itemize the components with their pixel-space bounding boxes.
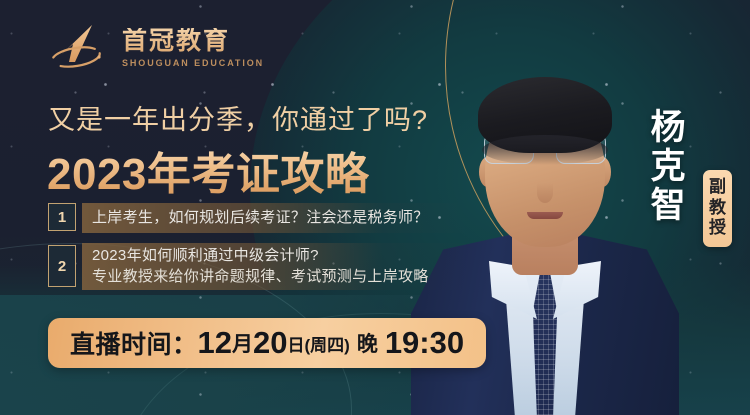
headline-subtitle: 又是一年出分季，你通过了吗? — [48, 98, 428, 137]
live-weekday: (周四) — [304, 331, 349, 356]
bullet-text: 2023年如何顺利通过中级会计师? — [92, 245, 468, 266]
headline-title: 2023年考证攻略 — [47, 138, 369, 202]
shouguan-flag-logo-icon — [48, 22, 110, 74]
live-month: 12 — [198, 325, 232, 361]
live-day: 20 — [253, 325, 287, 361]
bullet-content: 上岸考生，如何规划后续考证？注会还是税务师？ — [82, 203, 468, 233]
bullet-subtext: 专业教授来给你讲命题规律、考试预测与上岸攻略 — [92, 266, 468, 287]
promo-banner: 首冠教育 SHOUGUAN EDUCATION 又是一年出分季，你通过了吗? 2… — [0, 0, 750, 415]
bullet-list: 1 上岸考生，如何规划后续考证？注会还是税务师？ 2 2023年如何顺利通过中级… — [48, 203, 468, 300]
live-period: 晚 — [357, 328, 378, 358]
live-month-unit: 月 — [232, 328, 253, 358]
live-time-banner: 直播时间： 12 月 20 日 (周四) 晚 19:30 — [48, 318, 486, 368]
list-item: 2 2023年如何顺利通过中级会计师? 专业教授来给你讲命题规律、考试预测与上岸… — [48, 243, 468, 290]
list-item: 1 上岸考生，如何规划后续考证？注会还是税务师？ — [48, 203, 468, 233]
live-time-label: 直播时间： — [70, 325, 198, 361]
instructor-title-badge: 副教授 — [703, 170, 732, 247]
live-time: 19:30 — [385, 325, 464, 361]
brand-name-en: SHOUGUAN EDUCATION — [122, 58, 264, 68]
bullet-text: 上岸考生，如何规划后续考证？注会还是税务师？ — [92, 207, 468, 228]
bullet-content: 2023年如何顺利通过中级会计师? 专业教授来给你讲命题规律、考试预测与上岸攻略 — [82, 243, 468, 290]
bullet-number-badge: 1 — [48, 203, 76, 231]
live-day-unit: 日 — [287, 331, 304, 356]
brand-name-cn: 首冠教育 — [122, 28, 264, 54]
bullet-number-badge: 2 — [48, 245, 76, 287]
instructor-name: 杨克智 — [648, 108, 688, 226]
brand-text: 首冠教育 SHOUGUAN EDUCATION — [122, 28, 264, 67]
brand-logo: 首冠教育 SHOUGUAN EDUCATION — [48, 22, 264, 74]
